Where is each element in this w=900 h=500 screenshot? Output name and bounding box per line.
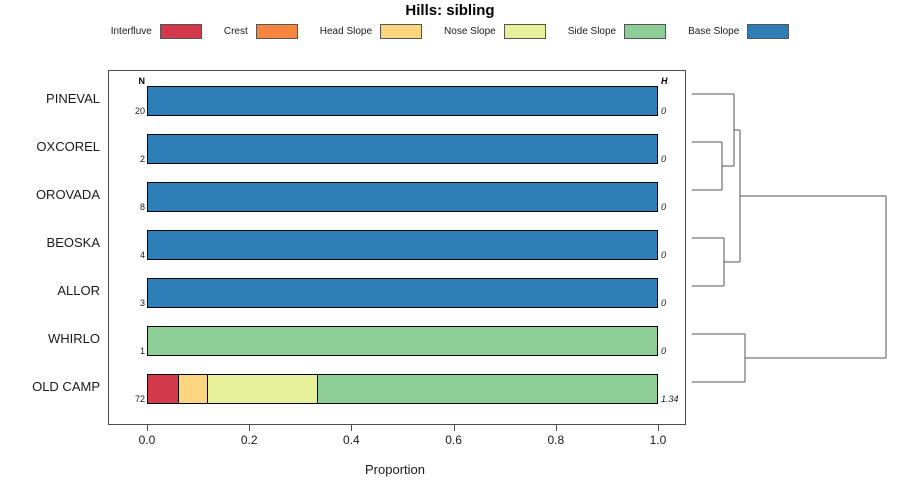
x-axis-tick — [249, 425, 250, 431]
x-axis-tick-label: 0.4 — [331, 433, 371, 447]
bar-segment[interactable] — [147, 182, 658, 212]
y-axis-tick-label: OXCOREL — [0, 139, 100, 154]
bar-segment[interactable] — [147, 134, 658, 164]
row-n-value: 2 — [117, 154, 145, 164]
x-axis-tick-label: 1.0 — [638, 433, 678, 447]
row-h-value: 0 — [661, 346, 685, 356]
plot-panel: N H 2002080403010721.34 — [108, 70, 686, 425]
legend-item: Interfluve — [111, 24, 202, 39]
legend-item-label: Nose Slope — [444, 26, 496, 37]
legend-color-swatch — [747, 24, 789, 39]
row-h-value: 0 — [661, 298, 685, 308]
row-n-value: 72 — [117, 394, 145, 404]
row-n-value: 1 — [117, 346, 145, 356]
x-axis-tick — [454, 425, 455, 431]
legend-item-label: Head Slope — [320, 26, 372, 37]
bar-track — [147, 134, 658, 164]
legend-item-label: Interfluve — [111, 26, 152, 37]
x-axis-title: Proportion — [0, 462, 790, 477]
bar-track — [147, 86, 658, 116]
row-h-value: 1.34 — [661, 394, 685, 404]
legend-item: Crest — [224, 24, 298, 39]
dendrogram-svg — [690, 70, 900, 425]
legend-color-swatch — [504, 24, 546, 39]
bar-segment[interactable] — [207, 374, 317, 404]
legend: InterfluveCrestHead SlopeNose SlopeSide … — [0, 24, 900, 39]
x-axis-tick-label: 0.6 — [434, 433, 474, 447]
row-h-value: 0 — [661, 106, 685, 116]
row-n-value: 3 — [117, 298, 145, 308]
legend-item-label: Side Slope — [568, 26, 616, 37]
legend-color-swatch — [256, 24, 298, 39]
legend-color-swatch — [624, 24, 666, 39]
bar-track — [147, 230, 658, 260]
row-h-value: 0 — [661, 202, 685, 212]
bar-segment[interactable] — [147, 278, 658, 308]
row-n-value: 20 — [117, 106, 145, 116]
y-axis-tick-label: OROVADA — [0, 187, 100, 202]
bar-track — [147, 374, 658, 404]
stacked-bar-row: 10 — [109, 317, 685, 365]
legend-item: Base Slope — [688, 24, 789, 39]
page-title: Hills: sibling — [0, 2, 900, 19]
legend-item: Side Slope — [568, 24, 666, 39]
x-axis: 0.00.20.40.60.81.0 — [108, 425, 686, 465]
legend-item-label: Crest — [224, 26, 248, 37]
stacked-bar-row: 200 — [109, 77, 685, 125]
y-axis-tick-label: WHIRLO — [0, 331, 100, 346]
y-axis-tick-label: PINEVAL — [0, 91, 100, 106]
bar-segment[interactable] — [147, 230, 658, 260]
bar-track — [147, 278, 658, 308]
stacked-bar-row: 20 — [109, 125, 685, 173]
x-axis-tick — [351, 425, 352, 431]
x-axis-tick-label: 0.0 — [127, 433, 167, 447]
y-axis-tick-label: ALLOR — [0, 283, 100, 298]
stacked-bar-row: 80 — [109, 173, 685, 221]
legend-color-swatch — [160, 24, 202, 39]
bar-segment[interactable] — [147, 86, 658, 116]
x-axis-tick — [147, 425, 148, 431]
dendrogram — [690, 70, 900, 425]
stacked-bar-row: 30 — [109, 269, 685, 317]
row-n-value: 4 — [117, 250, 145, 260]
y-axis-tick-label: BEOSKA — [0, 235, 100, 250]
legend-item: Head Slope — [320, 24, 422, 39]
x-axis-tick-label: 0.2 — [229, 433, 269, 447]
y-axis-tick-label: OLD CAMP — [0, 379, 100, 394]
legend-item-label: Base Slope — [688, 26, 739, 37]
row-h-value: 0 — [661, 154, 685, 164]
x-axis-tick-label: 0.8 — [536, 433, 576, 447]
x-axis-tick — [658, 425, 659, 431]
bar-track — [147, 326, 658, 356]
legend-item: Nose Slope — [444, 24, 546, 39]
bar-segment[interactable] — [147, 374, 178, 404]
legend-color-swatch — [380, 24, 422, 39]
stacked-bar-row: 40 — [109, 221, 685, 269]
x-axis-tick — [556, 425, 557, 431]
bar-track — [147, 182, 658, 212]
bar-segment[interactable] — [178, 374, 207, 404]
bar-segment[interactable] — [147, 326, 658, 356]
stacked-bar-row: 721.34 — [109, 365, 685, 413]
row-h-value: 0 — [661, 250, 685, 260]
bar-segment[interactable] — [317, 374, 658, 404]
row-n-value: 8 — [117, 202, 145, 212]
